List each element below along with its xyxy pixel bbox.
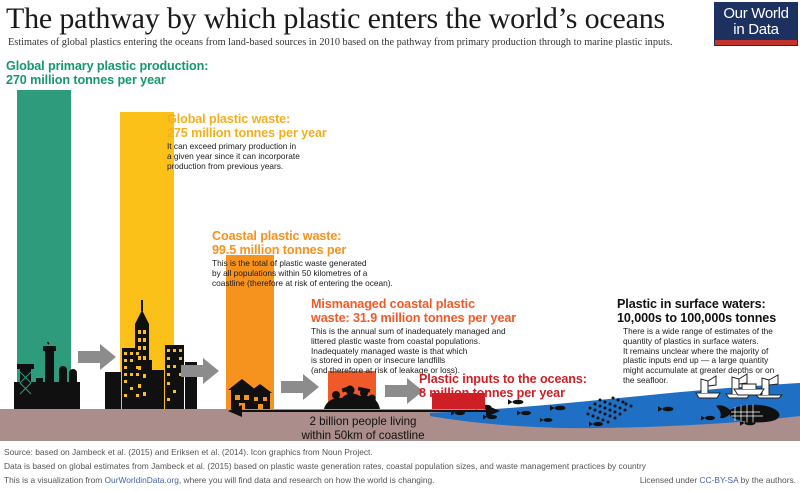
stage-heading: Plastic in surface waters: [617,297,766,311]
logo-line-1: Our World [715,3,797,22]
stage-label-global-plastic-waste: Global plastic waste: 275 million tonnes… [167,112,467,171]
city-skyline-icon [105,300,205,409]
arrow-mismanaged-to-oceans-icon [385,378,423,404]
stage-value: 270 million tonnes per year [6,73,166,87]
coastline-note-line-1: 2 billion people living [228,415,498,429]
footer-visualization-line: This is a visualization from OurWorldinD… [4,475,434,485]
footer-source-line: Source: based on Jambeck et al. (2015) a… [4,447,373,457]
page-title: The pathway by which plastic enters the … [6,2,716,36]
footer-viz-post: , where you will find data and research … [179,475,435,485]
stage-body: It can exceed primary production in a gi… [167,142,467,171]
stage-body: There is a wide range of estimates of th… [617,327,799,386]
our-world-in-data-logo[interactable]: Our World in Data [714,2,798,46]
stage-label-global-primary-plastic-production: Global primary plastic production: 270 m… [6,59,306,87]
footer-viz-pre: This is a visualization from [4,475,105,485]
logo-red-bar [715,40,797,45]
stage-heading: Plastic inputs to the oceans: [419,372,587,386]
houses-icon [226,374,278,409]
stage-value: waste: 31.9 million tonnes per year [311,311,516,325]
stage-heading: Global plastic waste: [167,112,290,126]
coastline-note: 2 billion people living within 50km of c… [228,415,498,443]
arrow-production-to-waste-icon [78,344,116,370]
stage-label-mismanaged-coastal-plastic-waste: Mismanaged coastal plastic waste: 31.9 m… [311,297,641,376]
license-pre: Licensed under [640,475,700,485]
stage-heading: Coastal plastic waste: [212,229,341,243]
owid-link[interactable]: OurWorldinData.org [105,475,179,485]
cc-license-link[interactable]: CC-BY-SA [699,475,738,485]
stage-value: 10,000s to 100,000s tonnes [617,311,776,325]
stage-label-plastic-in-surface-waters: Plastic in surface waters: 10,000s to 10… [617,297,799,386]
stage-label-coastal-plastic-waste: Coastal plastic waste: 99.5 million tonn… [212,229,512,288]
footer-data-line: Data is based on global estimates from J… [4,461,646,471]
stage-heading: Global primary plastic production: [6,59,208,73]
stage-value: 8 million tonnes per year [419,386,565,400]
stage-body: This is the total of plastic waste gener… [212,259,512,288]
footer: Source: based on Jambeck et al. (2015) a… [0,441,800,491]
footer-license-line: Licensed under CC-BY-SA by the authors. [640,475,796,485]
infographic-canvas: The pathway by which plastic enters the … [0,0,800,491]
stage-body: This is the annual sum of inadequately m… [311,327,641,376]
logo-line-2: in Data [715,22,797,38]
arrow-waste-to-coastal-icon [181,358,219,384]
license-post: by the authors. [738,475,796,485]
stage-value: 275 million tonnes per year [167,126,327,140]
stage-heading: Mismanaged coastal plastic [311,297,475,311]
factory-icon [12,342,82,409]
page-subtitle: Estimates of global plastics entering th… [8,37,714,49]
arrow-coastal-to-mismanaged-icon [281,374,319,400]
stage-value: 99.5 million tonnes per [212,243,346,257]
